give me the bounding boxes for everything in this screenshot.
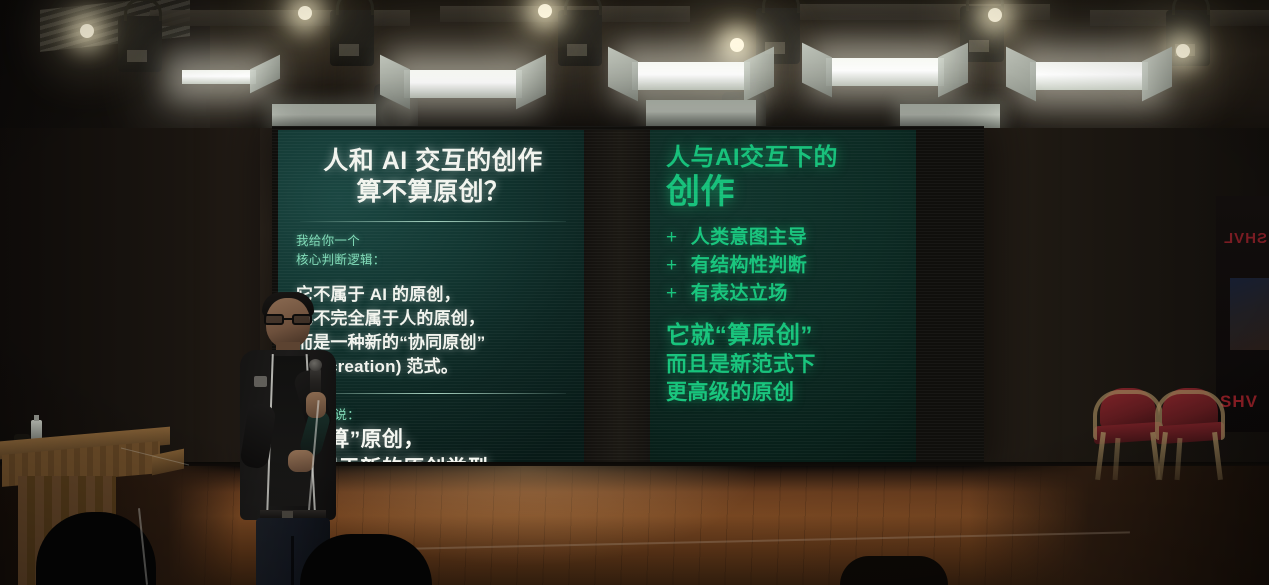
ceiling-lighting-rig <box>0 0 1269 132</box>
chair-leg <box>1175 438 1183 480</box>
light-glow <box>298 6 312 20</box>
divider-rule-top <box>300 221 566 222</box>
spotlight-fixture <box>1166 10 1210 66</box>
list-item: + 人类意图主导 <box>666 224 904 252</box>
barndoor-wing-icon <box>250 55 280 94</box>
panel-light-dim <box>900 104 1000 128</box>
wall-shadow-left <box>0 128 260 468</box>
panel-light-dim <box>272 104 376 128</box>
light-glow <box>80 24 94 38</box>
panel-light <box>826 58 944 86</box>
light-glow <box>988 8 1002 22</box>
left-slide-lede: 我给你一个 核心判断逻辑： <box>296 232 570 271</box>
barndoor-wing-icon <box>1142 47 1172 102</box>
jacket-chest-logo <box>254 376 267 387</box>
panel-light <box>182 70 256 84</box>
panel-light <box>404 70 522 98</box>
bullet-label: 有表达立场 <box>691 283 788 304</box>
barndoor-wing-icon <box>608 47 638 102</box>
panel-light-dim <box>646 100 756 126</box>
plus-icon: + <box>666 224 685 252</box>
panel-light <box>1030 62 1148 90</box>
red-chair-right <box>1152 388 1228 480</box>
barndoor-wing-icon <box>744 47 774 102</box>
right-slide-punchline: 它就“算原创” 而且是新范式下 更高级的原创 <box>666 320 904 407</box>
left-slide-title: 人和 AI 交互的创作 算不算原创？ <box>296 146 570 207</box>
led-presentation-screen: 人和 AI 交互的创作 算不算原创？ 我给你一个 核心判断逻辑： 它不属于 AI… <box>272 126 984 474</box>
floor-shadow-right <box>969 466 1269 585</box>
light-glow <box>730 38 744 52</box>
chair-leg <box>1113 438 1121 480</box>
barndoor-wing-icon <box>516 55 546 110</box>
bullet-label: 有结构性判断 <box>691 255 807 276</box>
right-slide-bullet-list: + 人类意图主导 + 有结构性判断 + 有表达立场 <box>666 224 904 308</box>
list-item: + 有表达立场 <box>666 280 904 308</box>
bullet-label: 人类意图主导 <box>691 227 807 248</box>
banner-image <box>1230 278 1269 350</box>
ceiling-beam <box>800 4 1050 20</box>
glasses-icon <box>264 314 312 325</box>
banner-top-text: SHVL <box>1223 230 1267 247</box>
light-glow <box>538 4 552 18</box>
panel-light <box>632 62 750 90</box>
barndoor-wing-icon <box>1006 47 1036 102</box>
spotlight-fixture <box>558 10 602 66</box>
right-slide-title: 人与AI交互下的 创作 <box>666 144 904 212</box>
barndoor-wing-icon <box>802 43 832 98</box>
audience-head-right <box>840 556 948 585</box>
plus-icon: + <box>666 252 685 280</box>
barndoor-wing-icon <box>938 43 968 98</box>
light-glow <box>1176 44 1190 58</box>
presenter-gesturing-hand <box>288 450 314 472</box>
spotlight-fixture <box>118 16 162 72</box>
plus-icon: + <box>666 280 685 308</box>
presentation-photo: 人和 AI 交互的创作 算不算原创？ 我给你一个 核心判断逻辑： 它不属于 AI… <box>0 0 1269 585</box>
list-item: + 有结构性判断 <box>666 252 904 280</box>
screen-gap <box>584 130 650 470</box>
spotlight-fixture <box>330 10 374 66</box>
slide-panel-right: 人与AI交互下的 创作 + 人类意图主导 + 有结构性判断 + 有表达立场 它就… <box>650 130 916 470</box>
